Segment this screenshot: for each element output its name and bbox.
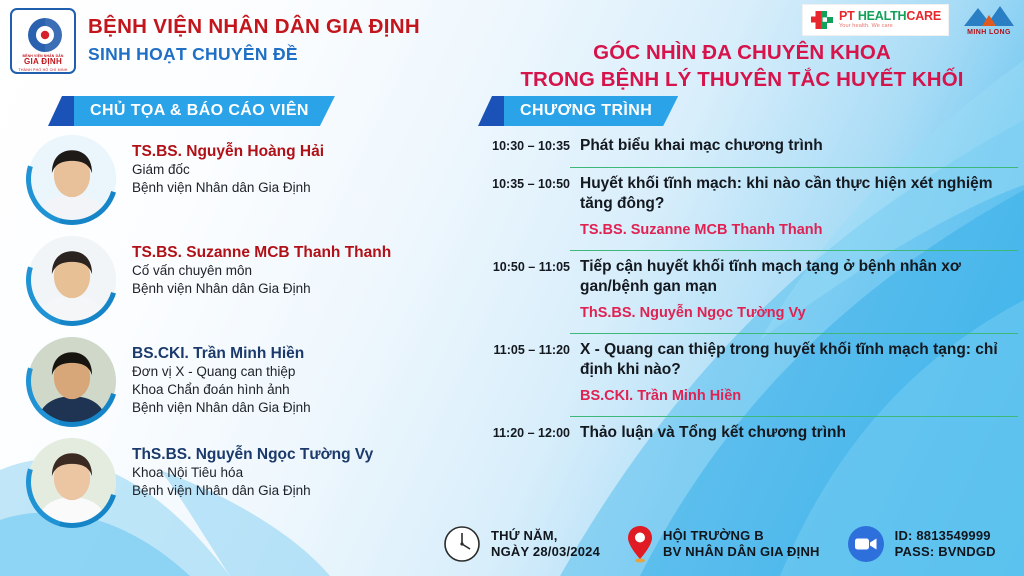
hospital-logo-icon: BỆNH VIỆN NHÂN DÂN GIA ĐỊNH THÀNH PHỐ HỒ… — [10, 8, 76, 74]
program-row: 10:35 – 10:50Huyết khối tĩnh mạch: khi n… — [466, 172, 1018, 243]
program-speaker: ThS.BS. Nguyễn Ngọc Tường Vy — [580, 304, 1018, 323]
speaker-affiliation-line: Bệnh viện Nhân dân Gia Định — [132, 399, 311, 417]
logo-line-2: GIA ĐỊNH — [12, 57, 74, 66]
title-line-1: GÓC NHÌN ĐA CHUYÊN KHOA — [470, 40, 1014, 67]
sponsor-minh-long-label: MINH LONG — [962, 29, 1016, 36]
program-body: Thảo luận và Tổng kết chương trình — [580, 423, 1018, 444]
clock-icon — [442, 524, 482, 564]
medical-cross-icon — [810, 8, 834, 32]
program-schedule: 10:30 – 10:35Phát biểu khai mạc chương t… — [466, 134, 1018, 446]
program-title: Thảo luận và Tổng kết chương trình — [580, 423, 1018, 444]
sponsor-pt-tagline: Your health. We care — [839, 24, 941, 30]
speaker-affiliation-line: Bệnh viện Nhân dân Gia Định — [132, 280, 391, 298]
program-title: Huyết khối tĩnh mạch: khi nào cần thực h… — [580, 174, 1018, 215]
program-body: Huyết khối tĩnh mạch: khi nào cần thực h… — [580, 174, 1018, 240]
program-speaker: TS.BS. Suzanne MCB Thanh Thanh — [580, 221, 1018, 240]
speaker-text: ThS.BS. Nguyễn Ngọc Tường VyKhoa Nội Tiê… — [132, 436, 373, 528]
program-body: Tiếp cận huyết khối tĩnh mạch tạng ở bện… — [580, 257, 1018, 323]
sponsor-pt-part1: PT — [839, 9, 858, 23]
hospital-name-block: BỆNH VIỆN NHÂN DÂN GIA ĐỊNH SINH HOẠT CH… — [88, 8, 420, 66]
program-body: Phát biểu khai mạc chương trình — [580, 136, 1018, 157]
header-left: BỆNH VIỆN NHÂN DÂN GIA ĐỊNH THÀNH PHỐ HỒ… — [10, 8, 420, 74]
footer-date: THỨ NĂM, NGÀY 28/03/2024 — [442, 524, 600, 564]
footer-date-line-1: THỨ NĂM, — [491, 528, 600, 544]
program-row: 11:20 – 12:00Thảo luận và Tổng kết chươn… — [466, 421, 1018, 447]
program-time: 10:50 – 11:05 — [466, 257, 570, 323]
program-time: 11:20 – 12:00 — [466, 423, 570, 444]
speaker-affiliation-line: Khoa Chẩn đoán hình ảnh — [132, 381, 311, 399]
speaker-name: ThS.BS. Nguyễn Ngọc Tường Vy — [132, 445, 373, 464]
ribbon-tab — [478, 96, 504, 126]
sponsor-pt-part2: HEALTH — [858, 9, 907, 23]
hospital-subtitle: SINH HOẠT CHUYÊN ĐỀ — [88, 43, 420, 67]
speaker-item: TS.BS. Suzanne MCB Thanh ThanhCố vấn chu… — [26, 234, 446, 326]
program-divider — [570, 416, 1018, 417]
footer-meeting-line-2: PASS: BVNDGD — [895, 544, 996, 560]
event-footer: THỨ NĂM, NGÀY 28/03/2024 HỘI TRƯỜNG B BV… — [442, 524, 1016, 564]
program-body: X - Quang can thiệp trong huyết khối tĩn… — [580, 340, 1018, 406]
mountain-icon — [962, 4, 1016, 28]
program-time: 11:05 – 11:20 — [466, 340, 570, 406]
program-row: 10:30 – 10:35Phát biểu khai mạc chương t… — [466, 134, 1018, 160]
ribbon-tab — [48, 96, 74, 126]
avatar — [26, 436, 118, 528]
speaker-affiliation-line: Đơn vị X - Quang can thiệp — [132, 363, 311, 381]
avatar — [26, 335, 118, 427]
footer-date-line-2: NGÀY 28/03/2024 — [491, 544, 600, 560]
program-time: 10:30 – 10:35 — [466, 136, 570, 157]
conference-poster: BỆNH VIỆN NHÂN DÂN GIA ĐỊNH THÀNH PHỐ HỒ… — [0, 0, 1024, 576]
program-divider — [570, 167, 1018, 168]
sponsor-pt-healthcare-logo: PT HEALTHCARE Your health. We care — [803, 5, 948, 35]
speaker-name: TS.BS. Suzanne MCB Thanh Thanh — [132, 243, 391, 262]
hospital-name: BỆNH VIỆN NHÂN DÂN GIA ĐỊNH — [88, 14, 420, 40]
speaker-affiliation-line: Cố vấn chuyên môn — [132, 262, 391, 280]
footer-venue-line-2: BV NHÂN DÂN GIA ĐỊNH — [663, 544, 820, 560]
logo-emblem — [21, 15, 69, 55]
chairs-ribbon-label: CHỦ TỌA & BÁO CÁO VIÊN — [74, 96, 335, 126]
program-title: Phát biểu khai mạc chương trình — [580, 136, 1018, 157]
chairs-ribbon: CHỦ TỌA & BÁO CÁO VIÊN — [48, 96, 335, 126]
sponsor-logos: PT HEALTHCARE Your health. We care MINH … — [803, 4, 1016, 36]
avatar-arc — [10, 420, 134, 544]
program-divider — [570, 333, 1018, 334]
program-ribbon: CHƯƠNG TRÌNH — [478, 96, 678, 126]
avatar-arc — [10, 117, 134, 241]
footer-meeting: ID: 8813549999 PASS: BVNDGD — [846, 524, 996, 564]
program-title: Tiếp cận huyết khối tĩnh mạch tạng ở bện… — [580, 257, 1018, 298]
avatar — [26, 133, 118, 225]
footer-venue: HỘI TRƯỜNG B BV NHÂN DÂN GIA ĐỊNH — [626, 524, 820, 564]
sponsor-pt-part3: CARE — [906, 9, 941, 23]
title-line-2: TRONG BỆNH LÝ THUYÊN TẮC HUYẾT KHỐI — [470, 67, 1014, 94]
avatar-arc — [10, 319, 134, 443]
avatar-arc — [10, 218, 134, 342]
video-camera-icon — [846, 524, 886, 564]
avatar — [26, 234, 118, 326]
program-row: 10:50 – 11:05Tiếp cận huyết khối tĩnh mạ… — [466, 255, 1018, 326]
speaker-text: TS.BS. Suzanne MCB Thanh ThanhCố vấn chu… — [132, 234, 391, 326]
speaker-text: TS.BS. Nguyễn Hoàng HảiGiám đốcBệnh viện… — [132, 133, 324, 225]
speaker-affiliation-line: Bệnh viện Nhân dân Gia Định — [132, 179, 324, 197]
program-time: 10:35 – 10:50 — [466, 174, 570, 240]
speakers-list: TS.BS. Nguyễn Hoàng HảiGiám đốcBệnh viện… — [26, 133, 446, 537]
footer-venue-line-1: HỘI TRƯỜNG B — [663, 528, 820, 544]
speaker-text: BS.CKI. Trần Minh HiềnĐơn vị X - Quang c… — [132, 335, 311, 427]
sponsor-minh-long-logo: MINH LONG — [962, 4, 1016, 36]
program-divider — [570, 250, 1018, 251]
speaker-affiliation-line: Khoa Nội Tiêu hóa — [132, 464, 373, 482]
speaker-affiliation-line: Giám đốc — [132, 161, 324, 179]
program-title: X - Quang can thiệp trong huyết khối tĩn… — [580, 340, 1018, 381]
speaker-item: ThS.BS. Nguyễn Ngọc Tường VyKhoa Nội Tiê… — [26, 436, 446, 528]
program-row: 11:05 – 11:20X - Quang can thiệp trong h… — [466, 338, 1018, 409]
program-ribbon-label: CHƯƠNG TRÌNH — [504, 96, 678, 126]
logo-line-3: THÀNH PHỐ HỒ CHÍ MINH — [12, 68, 74, 72]
speaker-name: BS.CKI. Trần Minh Hiền — [132, 344, 311, 363]
speaker-item: BS.CKI. Trần Minh HiềnĐơn vị X - Quang c… — [26, 335, 446, 427]
page-title: GÓC NHÌN ĐA CHUYÊN KHOA TRONG BỆNH LÝ TH… — [470, 40, 1014, 93]
speaker-affiliation-line: Bệnh viện Nhân dân Gia Định — [132, 482, 373, 500]
footer-meeting-line-1: ID: 8813549999 — [895, 528, 996, 544]
speaker-name: TS.BS. Nguyễn Hoàng Hải — [132, 142, 324, 161]
location-pin-icon — [626, 524, 654, 564]
program-speaker: BS.CKI. Trần Minh Hiền — [580, 387, 1018, 406]
speaker-item: TS.BS. Nguyễn Hoàng HảiGiám đốcBệnh viện… — [26, 133, 446, 225]
sponsor-pt-text: PT HEALTHCARE Your health. We care — [839, 10, 941, 30]
